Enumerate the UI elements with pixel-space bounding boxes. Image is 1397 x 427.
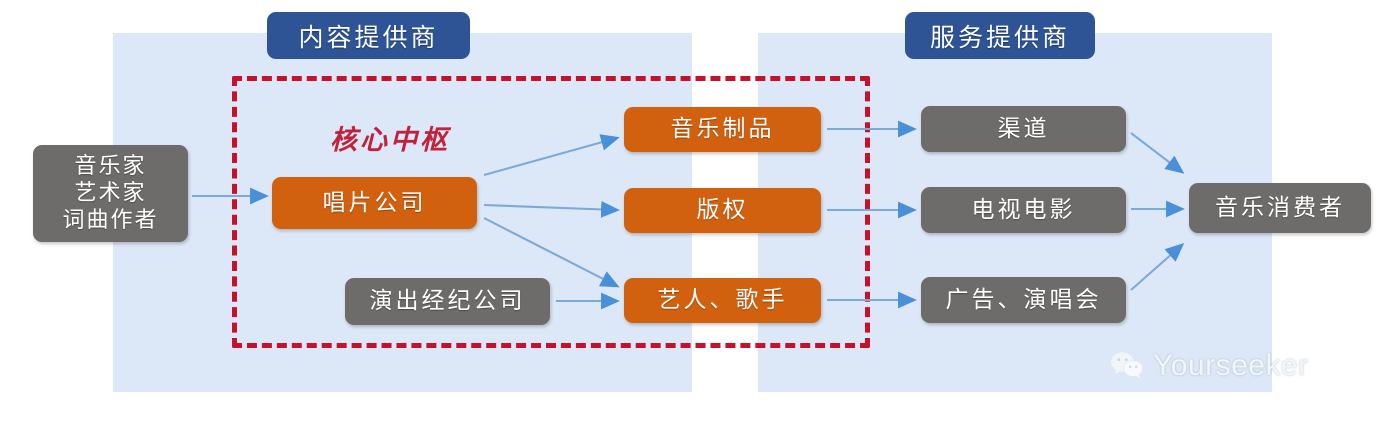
diagram-canvas: 内容提供商 服务提供商 核心中枢 音乐家 艺术家 词曲作者 唱片公司 演出经纪公… bbox=[0, 0, 1397, 427]
node-artists-line-3: 词曲作者 bbox=[62, 207, 158, 234]
wechat-icon bbox=[1110, 351, 1144, 381]
node-artists: 音乐家 艺术家 词曲作者 bbox=[33, 145, 188, 242]
node-ad-concert-text: 广告、演唱会 bbox=[946, 286, 1102, 314]
header-service-provider: 服务提供商 bbox=[905, 12, 1095, 59]
node-tv-film: 电视电影 bbox=[921, 187, 1126, 233]
node-music-products: 音乐制品 bbox=[624, 107, 821, 152]
node-performance-agency-text: 演出经纪公司 bbox=[370, 287, 526, 315]
node-copyright-text: 版权 bbox=[697, 196, 749, 224]
node-artists-line-1: 音乐家 bbox=[74, 153, 146, 180]
node-channel: 渠道 bbox=[921, 106, 1126, 152]
watermark-text: Yourseeker bbox=[1153, 349, 1309, 383]
node-ad-concert: 广告、演唱会 bbox=[921, 277, 1126, 323]
node-music-consumer-text: 音乐消费者 bbox=[1215, 194, 1345, 222]
node-tv-film-text: 电视电影 bbox=[972, 196, 1076, 224]
node-channel-text: 渠道 bbox=[998, 115, 1050, 143]
node-music-products-text: 音乐制品 bbox=[671, 115, 775, 143]
header-content-provider-label: 内容提供商 bbox=[298, 18, 438, 54]
node-copyright: 版权 bbox=[624, 188, 821, 233]
header-content-provider: 内容提供商 bbox=[267, 12, 470, 59]
node-label-company-text: 唱片公司 bbox=[323, 189, 427, 217]
core-hub-caption: 核心中枢 bbox=[330, 118, 450, 157]
node-label-company: 唱片公司 bbox=[272, 177, 477, 229]
node-artist-singer: 艺人、歌手 bbox=[624, 278, 821, 323]
header-service-provider-label: 服务提供商 bbox=[930, 18, 1070, 54]
node-music-consumer: 音乐消费者 bbox=[1189, 183, 1371, 233]
node-artist-singer-text: 艺人、歌手 bbox=[658, 286, 788, 314]
watermark: Yourseeker bbox=[1110, 345, 1309, 387]
node-performance-agency: 演出经纪公司 bbox=[345, 278, 550, 325]
node-artists-line-2: 艺术家 bbox=[74, 180, 146, 207]
